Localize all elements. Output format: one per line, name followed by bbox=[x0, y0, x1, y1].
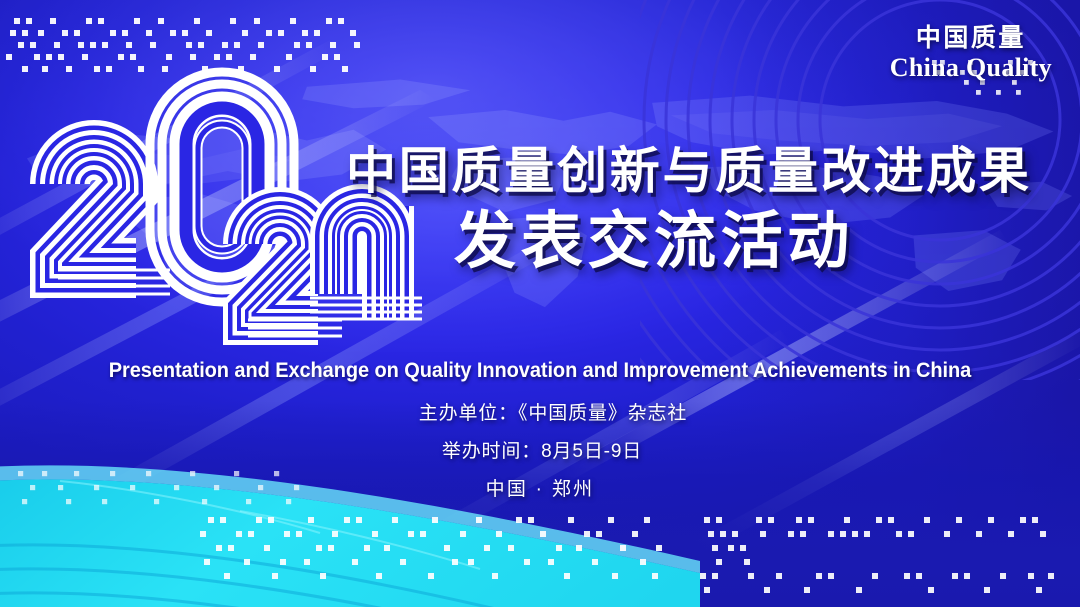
logo-chinese-text: 中国质量 bbox=[890, 24, 1052, 52]
headline-block: 中国质量创新与质量改进成果 发表交流活动 bbox=[346, 146, 1006, 272]
digit-2-first bbox=[60, 150, 136, 268]
logo-english-text: China Quality bbox=[890, 53, 1052, 83]
dot-matrix-bottom-center bbox=[196, 513, 666, 589]
dot-matrix-top-left bbox=[6, 14, 366, 86]
date-line: 举办时间：8月5日-9日 bbox=[0, 442, 1080, 461]
headline-line-2: 发表交流活动 bbox=[346, 209, 1006, 272]
organizer-line: 主办单位：《中国质量》杂志社 bbox=[0, 404, 1080, 423]
poster-canvas: 中国质量 China Quality 中国质量创新与质量改进成果 发表交流活动 … bbox=[0, 0, 1080, 607]
event-info-block: 主办单位：《中国质量》杂志社 举办时间：8月5日-9日 中国 · 郑州 bbox=[0, 404, 1080, 518]
digit-2-second bbox=[250, 214, 318, 318]
location-line: 中国 · 郑州 bbox=[0, 480, 1080, 499]
headline-line-1: 中国质量创新与质量改进成果 bbox=[346, 146, 1006, 197]
english-subtitle: Presentation and Exchange on Quality Inn… bbox=[38, 358, 1042, 383]
dot-matrix-bottom-right bbox=[696, 513, 1056, 597]
china-quality-logo: 中国质量 China Quality bbox=[890, 24, 1052, 83]
